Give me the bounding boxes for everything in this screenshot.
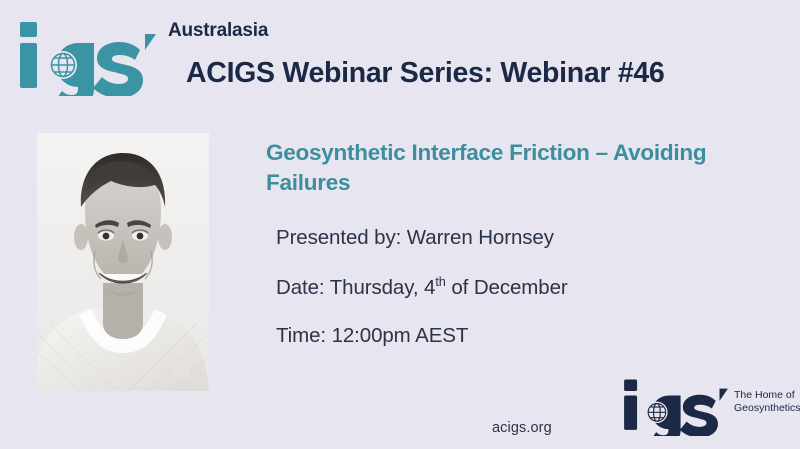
igs-logo-dark-icon bbox=[622, 378, 730, 436]
presenter-detail: Presented by: Warren Hornsey bbox=[276, 226, 554, 250]
brand-region-label: Australasia bbox=[168, 20, 268, 42]
igs-tagline: The Home of Geosynthetics bbox=[734, 389, 800, 415]
time-detail: Time: 12:00pm AEST bbox=[276, 324, 468, 348]
presenter-photo bbox=[37, 133, 209, 391]
igs-footer-logo: The Home of Geosynthetics bbox=[622, 378, 794, 436]
igs-logo-icon bbox=[18, 20, 158, 96]
date-detail: Date: Thursday, 4th of December bbox=[276, 276, 568, 300]
webinar-slide: Australasia ACIGS Webinar Series: Webina… bbox=[0, 0, 800, 449]
date-text-main: Date: Thursday, 4 bbox=[276, 276, 435, 299]
date-ordinal-suffix: th bbox=[435, 274, 445, 289]
igs-tagline-line-2: Geosynthetics bbox=[734, 402, 800, 415]
igs-tagline-line-1: The Home of bbox=[734, 389, 800, 402]
site-url[interactable]: acigs.org bbox=[492, 420, 552, 436]
webinar-topic: Geosynthetic Interface Friction – Avoidi… bbox=[266, 138, 766, 197]
date-text-tail: of December bbox=[446, 276, 568, 299]
page-title: ACIGS Webinar Series: Webinar #46 bbox=[186, 57, 786, 90]
